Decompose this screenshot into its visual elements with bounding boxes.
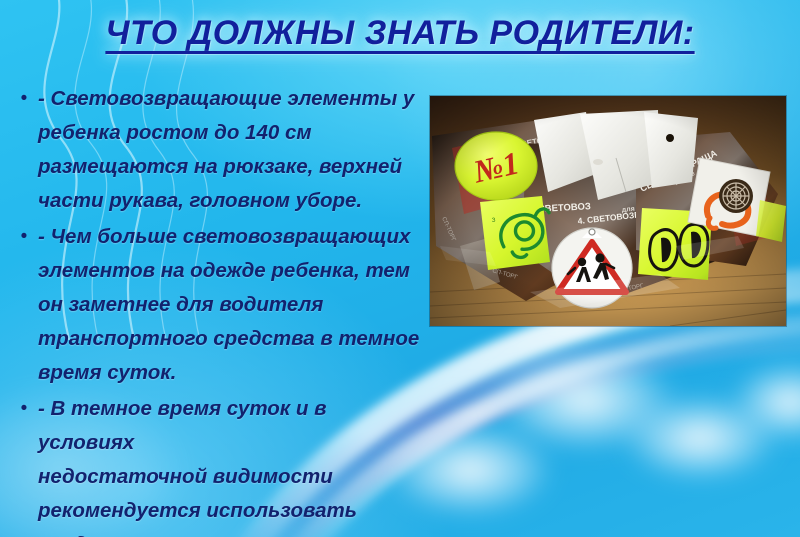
reflective-items-photo: СВЕТОВОЗВ СВЕТОВОЗВ СП-ТОРГ СП-ТОРГ СВЕТ… xyxy=(430,96,786,326)
photo-content: СВЕТОВОЗВ СВЕТОВОЗВ СП-ТОРГ СП-ТОРГ СВЕТ… xyxy=(430,96,786,326)
list-item: • - Чем больше световозвращающих элемент… xyxy=(8,220,428,390)
bullet-list: • - Световозвращающие элементы у ребенка… xyxy=(8,82,428,537)
bullet-marker-icon: • xyxy=(8,392,38,426)
list-item: • - В темное время суток и в условиях не… xyxy=(8,392,428,537)
bullet-marker-icon: • xyxy=(8,220,38,254)
list-item: • - Световозвращающие элементы у ребенка… xyxy=(8,82,428,218)
bullet-text: - В темное время суток и в условиях недо… xyxy=(38,392,428,537)
bullet-marker-icon: • xyxy=(8,82,38,116)
bullet-text: - Чем больше световозвращающих элементов… xyxy=(38,220,428,390)
bullet-text: - Световозвращающие элементы у ребенка р… xyxy=(38,82,428,218)
presentation-slide: ЧТО ДОЛЖНЫ ЗНАТЬ РОДИТЕЛИ: • - Световозв… xyxy=(0,0,800,537)
